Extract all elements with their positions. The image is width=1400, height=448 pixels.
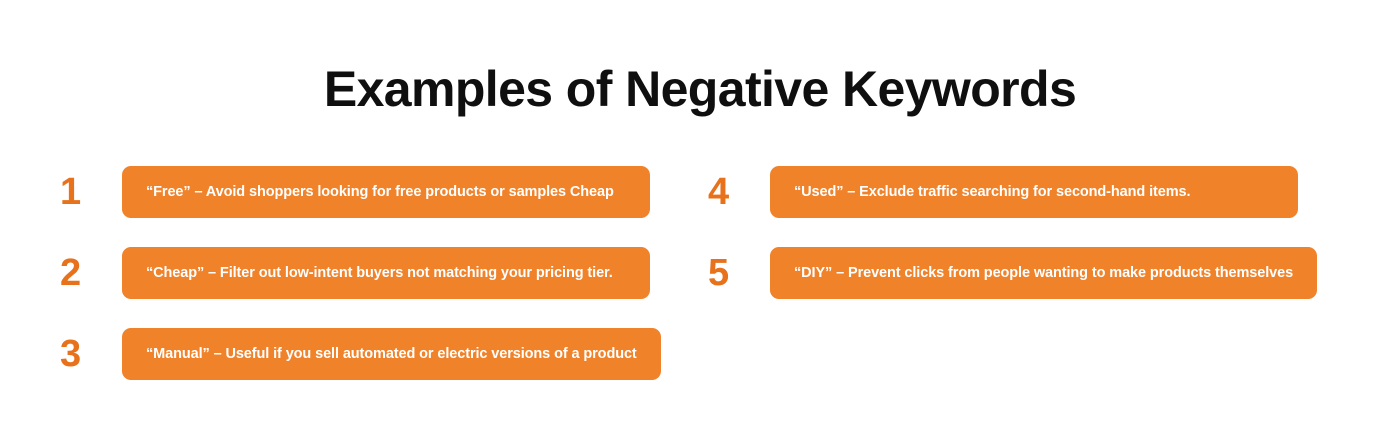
keyword-card-text: “Free” – Avoid shoppers looking for free… (146, 183, 614, 201)
keyword-card[interactable]: “Manual” – Useful if you sell automated … (122, 328, 661, 380)
item-number: 2 (60, 254, 122, 292)
keyword-card[interactable]: “Used” – Exclude traffic searching for s… (770, 166, 1298, 218)
item-number: 3 (60, 335, 122, 373)
keyword-columns: 1 “Free” – Avoid shoppers looking for fr… (0, 166, 1400, 380)
keyword-card[interactable]: “Cheap” – Filter out low-intent buyers n… (122, 247, 650, 299)
list-item: 4 “Used” – Exclude traffic searching for… (708, 166, 1298, 218)
keyword-card-text: “DIY” – Prevent clicks from people wanti… (794, 264, 1293, 282)
keyword-card[interactable]: “DIY” – Prevent clicks from people wanti… (770, 247, 1317, 299)
left-column: 1 “Free” – Avoid shoppers looking for fr… (60, 166, 650, 380)
list-item: 1 “Free” – Avoid shoppers looking for fr… (60, 166, 650, 218)
item-number: 4 (708, 173, 770, 211)
list-item: 3 “Manual” – Useful if you sell automate… (60, 328, 650, 380)
infographic-root: Examples of Negative Keywords 1 “Free” –… (0, 0, 1400, 448)
right-column: 4 “Used” – Exclude traffic searching for… (708, 166, 1298, 299)
keyword-card-text: “Manual” – Useful if you sell automated … (146, 345, 637, 363)
list-item: 5 “DIY” – Prevent clicks from people wan… (708, 247, 1298, 299)
item-number: 5 (708, 254, 770, 292)
page-title: Examples of Negative Keywords (0, 62, 1400, 117)
list-item: 2 “Cheap” – Filter out low-intent buyers… (60, 247, 650, 299)
item-number: 1 (60, 173, 122, 211)
keyword-card-text: “Used” – Exclude traffic searching for s… (794, 183, 1190, 201)
keyword-card[interactable]: “Free” – Avoid shoppers looking for free… (122, 166, 650, 218)
keyword-card-text: “Cheap” – Filter out low-intent buyers n… (146, 264, 613, 282)
